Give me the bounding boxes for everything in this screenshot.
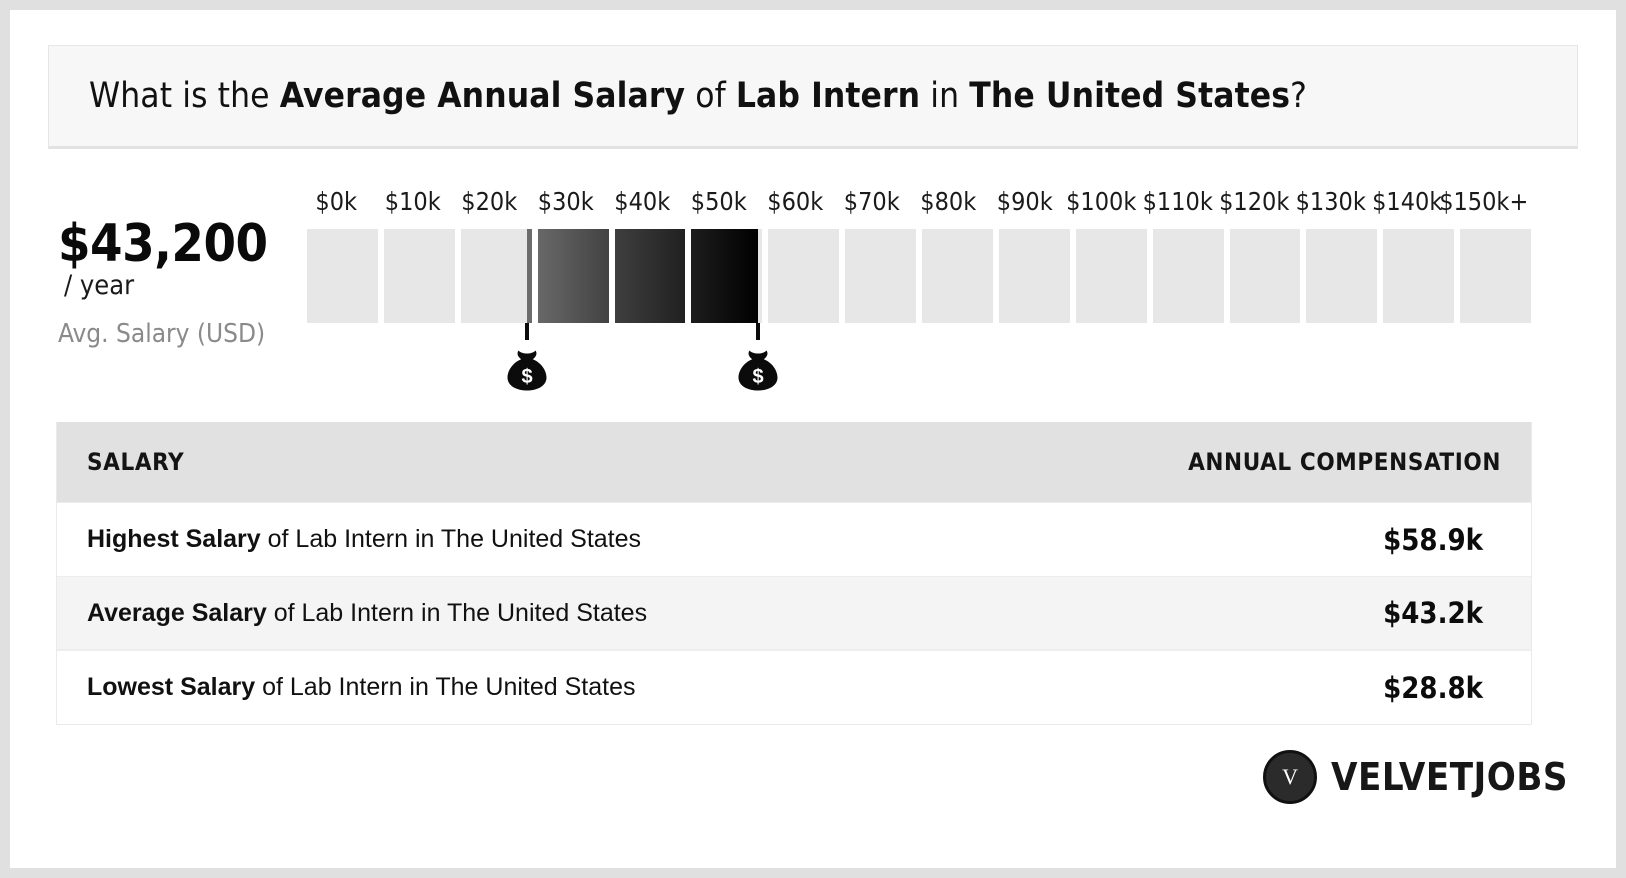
salary-bar-segment-slot [1153, 229, 1224, 323]
question-title-box: What is the Average Annual Salary of Lab… [48, 45, 1578, 149]
table-cell-salary-label: Average Salary of Lab Intern in The Unit… [87, 599, 1181, 628]
table-cell-salary-label: Highest Salary of Lab Intern in The Unit… [87, 525, 1181, 554]
salary-table: SALARY ANNUAL COMPENSATION Highest Salar… [56, 422, 1532, 725]
axis-tick-label: $0k [315, 187, 357, 216]
salary-bar-segment-slot [1460, 229, 1531, 323]
salary-bar-segment-slot [691, 229, 762, 323]
money-bag-icon: $ [735, 347, 781, 391]
infographic-card: What is the Average Annual Salary of Lab… [10, 10, 1616, 868]
axis-tick-label: $50k [691, 187, 747, 216]
axis-tick-label: $30k [538, 187, 594, 216]
table-row: Average Salary of Lab Intern in The Unit… [57, 576, 1531, 650]
salary-bar-segment-slot [1076, 229, 1147, 323]
axis-tick-label: $80k [920, 187, 976, 216]
salary-bar-segment-slot [1306, 229, 1377, 323]
salary-type-label: Lowest Salary [87, 673, 255, 701]
column-header-salary: SALARY [87, 448, 1181, 476]
axis-tick-label: $10k [385, 187, 441, 216]
axis-tick-label: $140k [1372, 187, 1442, 216]
svg-text:$: $ [522, 366, 533, 388]
velvetjobs-badge-icon: V [1263, 750, 1317, 804]
title-run-2: of [685, 76, 736, 116]
salary-bar-segment-slot [461, 229, 532, 323]
axis-tick-label: $150k+ [1439, 187, 1528, 216]
axis-tick-label: $120k [1219, 187, 1289, 216]
page-title: What is the Average Annual Salary of Lab… [49, 76, 1307, 116]
velvetjobs-wordmark: VELVETJOBS [1331, 755, 1568, 799]
table-header-row: SALARY ANNUAL COMPENSATION [57, 422, 1531, 502]
title-run-1: Average Annual Salary [280, 76, 685, 116]
average-salary-amount: $43,200 [58, 218, 268, 270]
salary-type-label: Average Salary [87, 599, 267, 627]
salary-bar-segment-slot [922, 229, 993, 323]
salary-bar-track [307, 229, 1531, 323]
salary-bar-segment-slot [1383, 229, 1454, 323]
chart-x-axis: $0k$10k$20k$30k$40k$50k$60k$70k$80k$90k$… [298, 187, 1538, 221]
svg-text:$: $ [752, 366, 763, 388]
velvetjobs-logo[interactable]: V VELVETJOBS [1263, 750, 1568, 804]
average-salary-caption: Avg. Salary (USD) [58, 319, 298, 349]
axis-tick-label: $90k [997, 187, 1053, 216]
title-run-0: What is the [89, 76, 280, 116]
table-cell-annual-compensation: $28.8k [1181, 671, 1501, 705]
axis-tick-label: $130k [1296, 187, 1366, 216]
axis-tick-label: $110k [1143, 187, 1213, 216]
salary-bar-segment-slot [999, 229, 1070, 323]
salary-type-label: Highest Salary [87, 525, 261, 553]
axis-tick-label: $20k [461, 187, 517, 216]
axis-tick-label: $60k [767, 187, 823, 216]
title-run-5: The United States [969, 76, 1290, 116]
average-salary-unit: / year [64, 270, 134, 301]
money-bag-icon: $ [504, 347, 550, 391]
axis-tick-label: $70k [844, 187, 900, 216]
salary-bar-segment-slot [384, 229, 455, 323]
table-cell-annual-compensation: $43.2k [1181, 596, 1501, 630]
average-salary-summary: $43,200/ year Avg. Salary (USD) [58, 218, 298, 349]
table-row: Highest Salary of Lab Intern in The Unit… [57, 502, 1531, 576]
salary-range-bar [307, 229, 1531, 323]
salary-bar-segment-slot [538, 229, 609, 323]
table-cell-salary-label: Lowest Salary of Lab Intern in The Unite… [87, 673, 1181, 702]
axis-tick-label: $100k [1066, 187, 1136, 216]
table-row: Lowest Salary of Lab Intern in The Unite… [57, 650, 1531, 724]
salary-bar-segment-slot [1230, 229, 1301, 323]
table-body: Highest Salary of Lab Intern in The Unit… [57, 502, 1531, 724]
title-run-4: in [920, 76, 969, 116]
column-header-annual-compensation: ANNUAL COMPENSATION [1181, 448, 1501, 476]
salary-bar-segment-slot [307, 229, 378, 323]
salary-bar-segment-slot [845, 229, 916, 323]
axis-tick-label: $40k [614, 187, 670, 216]
marker-stem [756, 323, 760, 340]
marker-stem [525, 323, 529, 340]
salary-bar-segment-gaps [307, 229, 1531, 323]
salary-range-chart: $0k$10k$20k$30k$40k$50k$60k$70k$80k$90k$… [10, 160, 1616, 410]
salary-bar-segment-slot [615, 229, 686, 323]
salary-bar-segment-slot [768, 229, 839, 323]
table-cell-annual-compensation: $58.9k [1181, 523, 1501, 557]
title-run-6: ? [1290, 76, 1307, 116]
title-run-3: Lab Intern [736, 76, 920, 116]
